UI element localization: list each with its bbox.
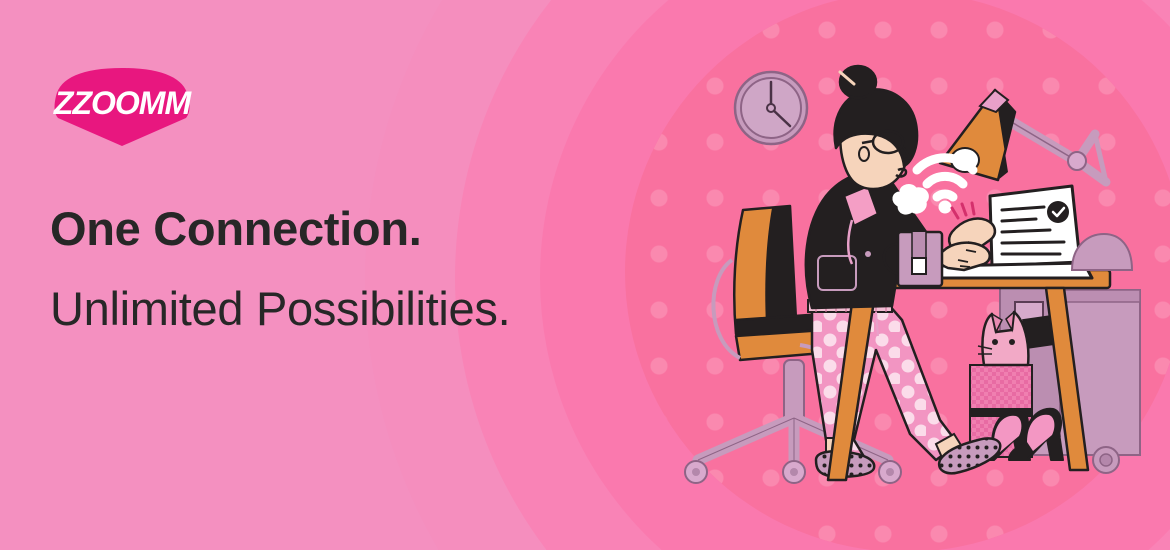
promo-banner: ZZOOMM One Connection. Unlimited Possibi… <box>0 0 1170 550</box>
workspace-illustration <box>640 20 1170 530</box>
headline-line-2: Unlimited Possibilities. <box>50 285 650 332</box>
logo-text-glyphs: ZZOOMM <box>53 85 193 121</box>
verified-check-icon <box>1047 201 1069 223</box>
wifi-dot-icon <box>939 201 952 214</box>
mauve-pouffe <box>1072 234 1132 270</box>
headline: One Connection. Unlimited Possibilities. <box>50 205 650 332</box>
motion-lines <box>952 203 974 218</box>
steam-cloud-icon <box>893 185 928 214</box>
wall-clock-icon <box>735 72 807 144</box>
headline-line-1: One Connection. <box>50 205 650 252</box>
zzoomm-logo[interactable]: ZZOOMM <box>46 62 198 150</box>
